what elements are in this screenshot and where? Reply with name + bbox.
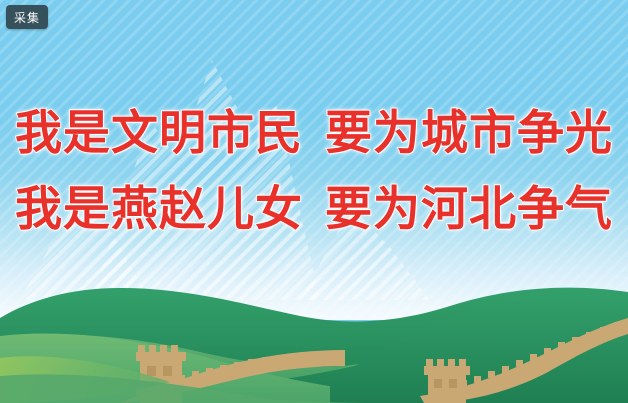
landscape-illustration (0, 0, 628, 403)
capture-button[interactable]: 采集 (6, 5, 48, 29)
banner-screenshot: 我是文明市民要为城市争光 我是燕赵儿女要为河北争气 采集 (0, 0, 628, 403)
